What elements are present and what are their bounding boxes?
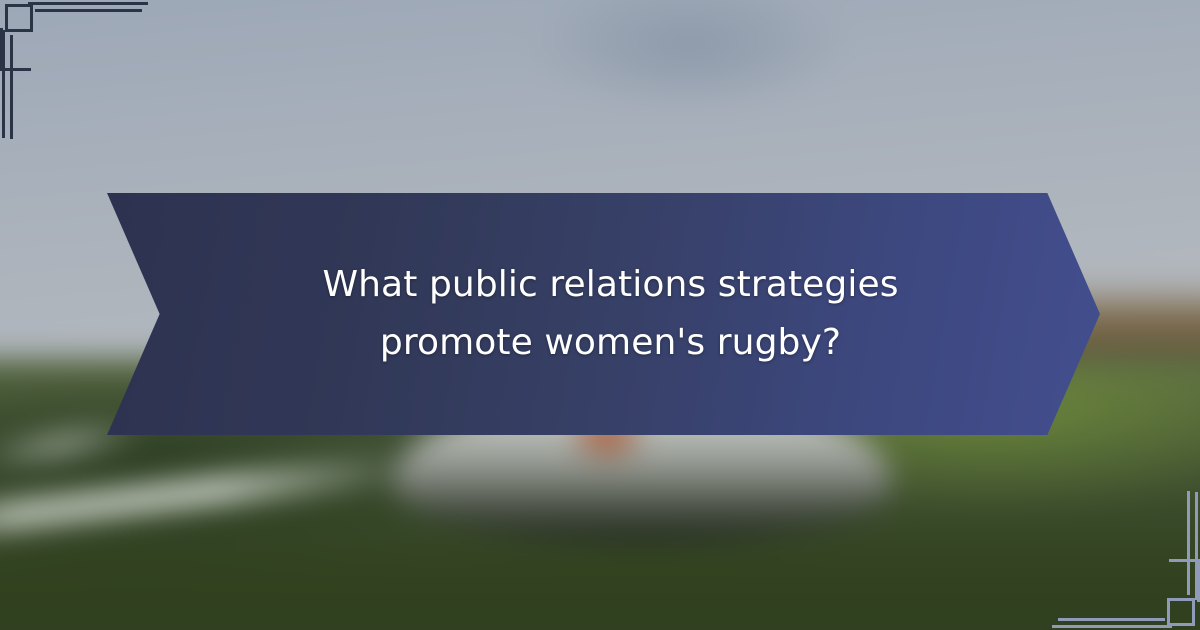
corner-rule-bottom-outer — [1052, 625, 1172, 628]
promo-card: What public relations strategies promote… — [0, 0, 1200, 630]
corner-rule-left-inner — [10, 35, 13, 139]
corner-square-icon — [1167, 598, 1195, 626]
corner-rule-bottom-inner — [1058, 618, 1165, 621]
corner-rule-left-outer — [2, 30, 5, 138]
cloud-patch — [523, 0, 856, 116]
headline-text: What public relations strategies promote… — [237, 256, 971, 372]
corner-rule-top-inner — [35, 9, 142, 12]
corner-bracket-top-left — [0, 0, 200, 160]
corner-bracket-bottom-right — [1000, 470, 1200, 630]
corner-rule-top-outer — [28, 2, 148, 5]
corner-rule-right-inner — [1187, 491, 1190, 595]
corner-rule-right-outer — [1195, 492, 1198, 600]
headline-banner: What public relations strategies promote… — [107, 193, 1100, 435]
